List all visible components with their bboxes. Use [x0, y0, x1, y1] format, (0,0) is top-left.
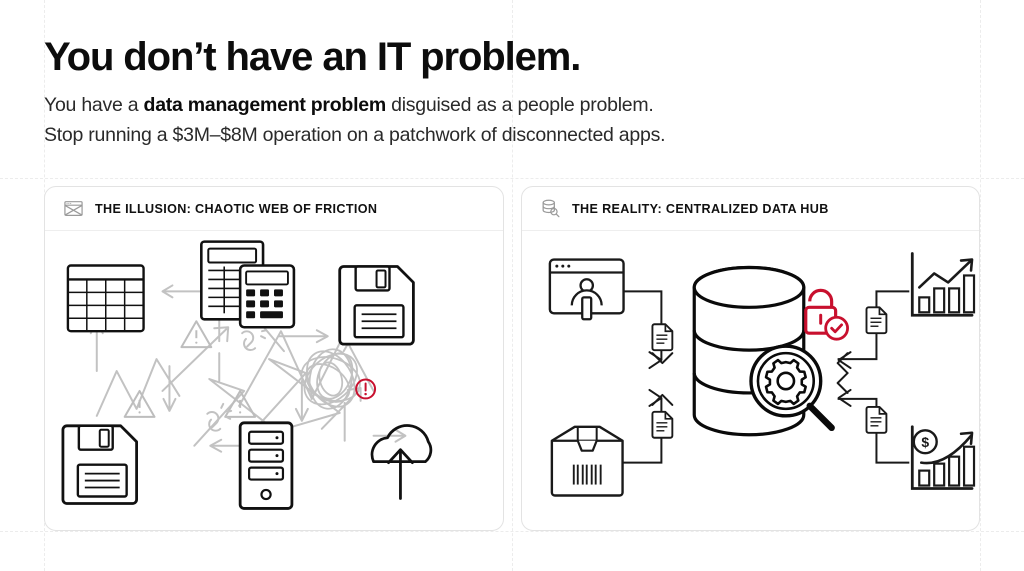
browser-user-icon [550, 260, 624, 320]
grid-line-vertical [980, 0, 981, 571]
lock-verified-icon [806, 290, 848, 339]
document-node-icon-2 [652, 412, 672, 438]
floppy-disk-icon-top [340, 267, 414, 345]
broken-window-x-icon [63, 198, 84, 219]
hub-left-arrowheads [649, 352, 661, 406]
revenue-chart-icon: $ [912, 427, 974, 489]
centralized-hub-diagram: $ [522, 231, 979, 531]
subtitle-line-1: You have a data management problem disgu… [44, 91, 964, 121]
subtitle-line-1-emphasis: data management problem [144, 94, 386, 116]
card-illusion: THE ILLUSION: CHAOTIC WEB OF FRICTION [44, 186, 504, 531]
card-reality-header: THE REALITY: CENTRALIZED DATA HUB [522, 187, 979, 231]
card-illusion-header: THE ILLUSION: CHAOTIC WEB OF FRICTION [45, 187, 503, 231]
card-reality: THE REALITY: CENTRALIZED DATA HUB [521, 186, 980, 531]
floppy-disk-icon-bottom [63, 426, 137, 504]
subtitle-line-1-suffix: disguised as a people problem. [386, 94, 654, 116]
bar-chart-trend-icon [912, 254, 974, 316]
card-illusion-body [45, 231, 503, 531]
page-header: You don’t have an IT problem. You have a… [44, 36, 964, 150]
warning-triangle-icon-1 [181, 321, 211, 347]
shipping-box-icon [552, 427, 623, 496]
card-reality-body: $ [522, 231, 979, 531]
document-node-icon-1 [652, 324, 672, 350]
card-illusion-title: THE ILLUSION: CHAOTIC WEB OF FRICTION [95, 202, 377, 216]
page-subtitle: You have a data management problem disgu… [44, 91, 964, 150]
database-search-icon [540, 198, 561, 219]
page-title: You don’t have an IT problem. [44, 36, 964, 79]
calculator-receipt-icon [201, 242, 294, 328]
grid-line-horizontal [0, 178, 1024, 179]
spreadsheet-grid-icon [68, 266, 144, 332]
tangled-scribble-icon [295, 343, 367, 416]
document-node-icon-4 [866, 407, 886, 433]
grid-line-horizontal [0, 531, 1024, 532]
chaotic-web-diagram [45, 231, 503, 531]
subtitle-line-2: Stop running a $3M–$8M operation on a pa… [44, 121, 964, 151]
document-node-icon-3 [866, 307, 886, 333]
subtitle-line-1-prefix: You have a [44, 94, 144, 116]
server-tower-icon [240, 423, 292, 509]
svg-text:$: $ [921, 434, 929, 450]
card-reality-title: THE REALITY: CENTRALIZED DATA HUB [572, 202, 829, 216]
